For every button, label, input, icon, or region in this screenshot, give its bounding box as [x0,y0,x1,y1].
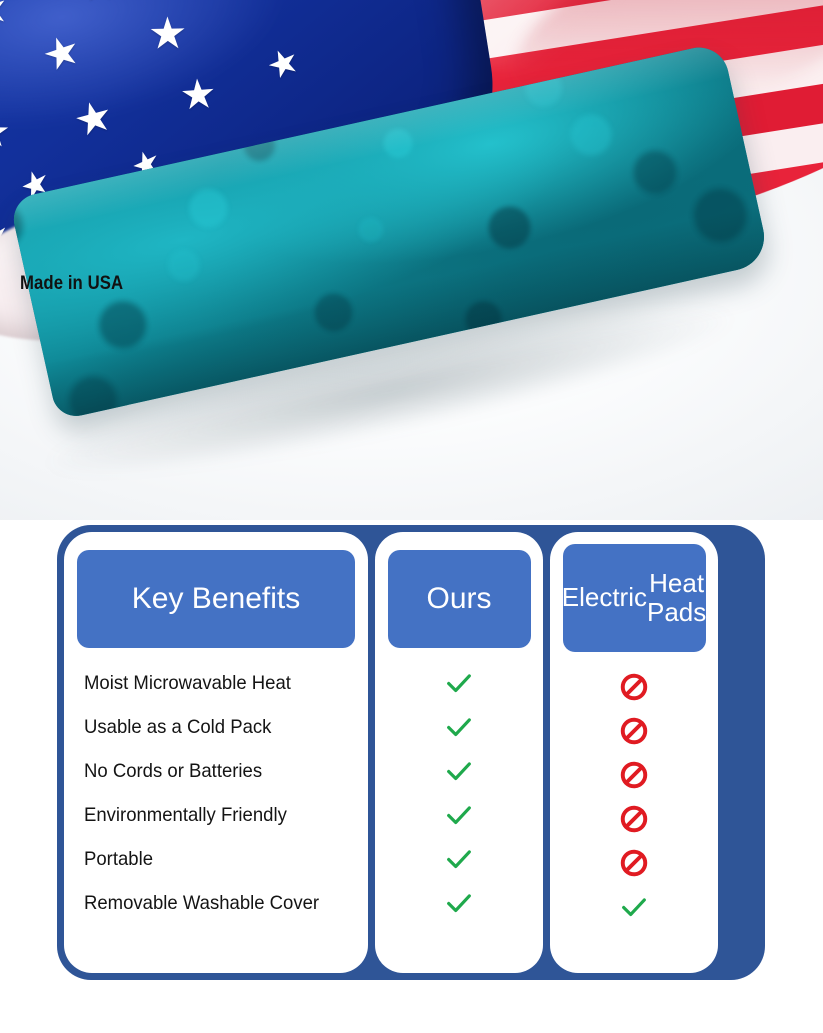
flag-star-icon: ★ [80,0,120,8]
table-row [550,753,718,797]
table-row [375,881,543,925]
prohibited-icon [619,716,649,746]
header-line-1: Electric [562,583,647,612]
benefit-label: No Cords or Batteries [84,760,262,783]
check-icon [444,668,474,698]
check-icon [444,800,474,830]
table-row [550,709,718,753]
table-row [375,705,543,749]
comparison-cards: Key Benefits Moist Microwavable Heat Usa… [64,532,758,973]
benefit-label: Portable [84,848,153,871]
benefit-label: Removable Washable Cover [84,892,319,915]
product-photo: ★ ★ ★ ★ ★ ★ ★ ★ ★ ★ ★ ★ ★ ★ Made in USA [0,0,823,520]
prohibited-icon [619,804,649,834]
check-icon [444,712,474,742]
column-header-electric-heat-pads: Electric Heat Pads [563,544,706,652]
check-icon [444,756,474,786]
table-row: Environmentally Friendly [64,793,368,837]
benefit-label: Usable as a Cold Pack [84,716,271,739]
made-in-usa-label: Made in USA [20,273,123,295]
flag-star-icon: ★ [148,11,188,56]
prohibited-icon [619,848,649,878]
prohibited-icon [619,672,649,702]
table-row: Removable Washable Cover [64,881,368,925]
table-row: Portable [64,837,368,881]
table-row [375,749,543,793]
flag-star-icon: ★ [178,73,218,116]
check-icon [619,892,649,922]
comparison-table: Key Benefits Moist Microwavable Heat Usa… [57,525,765,980]
benefit-label-list: Moist Microwavable Heat Usable as a Cold… [64,661,368,925]
electric-mark-list [550,665,718,929]
column-key-benefits: Key Benefits Moist Microwavable Heat Usa… [64,532,368,973]
column-header-key-benefits: Key Benefits [77,550,355,648]
column-header-ours: Ours [388,550,531,648]
column-ours: Ours [375,532,543,973]
benefit-label: Moist Microwavable Heat [84,672,291,695]
table-row [550,885,718,929]
table-row: Usable as a Cold Pack [64,705,368,749]
table-row [375,837,543,881]
table-row [550,797,718,841]
table-row: Moist Microwavable Heat [64,661,368,705]
table-row: No Cords or Batteries [64,749,368,793]
benefit-label: Environmentally Friendly [84,804,287,827]
check-icon [444,844,474,874]
column-electric-heat-pads: Electric Heat Pads [550,532,718,973]
flag-star-icon: ★ [0,110,11,153]
table-row [375,661,543,705]
prohibited-icon [619,760,649,790]
table-row [550,841,718,885]
table-row [375,793,543,837]
header-line-2: Heat Pads [647,569,706,628]
check-icon [444,888,474,918]
table-row [550,665,718,709]
ours-mark-list [375,661,543,925]
